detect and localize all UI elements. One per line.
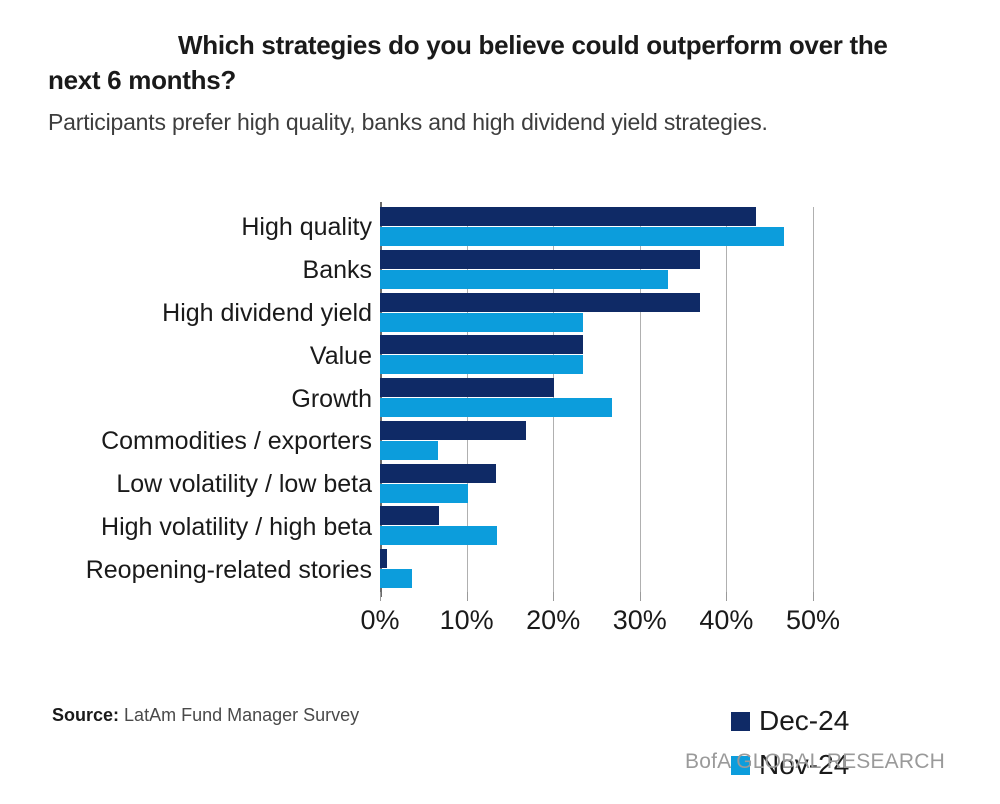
bar-group <box>380 250 813 293</box>
x-tick <box>553 592 554 601</box>
legend-item[interactable]: Dec-24 <box>731 699 849 743</box>
category-label: High dividend yield <box>162 301 372 326</box>
bar-nov-24 <box>380 227 784 246</box>
bar-dec-24 <box>380 378 554 397</box>
chart-title: Which strategies do you believe could ou… <box>0 0 1000 99</box>
bar-nov-24 <box>380 526 497 545</box>
bar-nov-24 <box>380 441 438 460</box>
bar-dec-24 <box>380 421 526 440</box>
x-tick-label: 30% <box>613 605 667 636</box>
chart-plot: High qualityBanksHigh dividend yieldValu… <box>0 195 1000 655</box>
bar-dec-24 <box>380 250 700 269</box>
plot-area <box>380 207 813 592</box>
y-axis-category-labels: High qualityBanksHigh dividend yieldValu… <box>0 207 376 592</box>
category-label: Commodities / exporters <box>101 429 372 454</box>
x-tick-label: 20% <box>526 605 580 636</box>
bar-nov-24 <box>380 313 583 332</box>
source-note: Source: LatAm Fund Manager Survey <box>52 705 359 726</box>
bar-nov-24 <box>380 484 468 503</box>
bar-dec-24 <box>380 293 700 312</box>
category-label: High quality <box>241 215 372 240</box>
bar-nov-24 <box>380 270 668 289</box>
bar-group <box>380 293 813 336</box>
bar-nov-24 <box>380 569 412 588</box>
bar-group <box>380 549 813 592</box>
gridline-50 <box>813 207 814 592</box>
category-label: Value <box>310 344 372 369</box>
x-tick-label: 40% <box>699 605 753 636</box>
x-tick <box>380 592 381 601</box>
bar-nov-24 <box>380 355 583 374</box>
legend-swatch-dec-24 <box>731 712 750 731</box>
legend-label: Dec-24 <box>759 705 849 737</box>
bar-dec-24 <box>380 207 756 226</box>
x-tick <box>467 592 468 601</box>
x-tick-label: 10% <box>440 605 494 636</box>
category-label: Low volatility / low beta <box>116 472 372 497</box>
x-tick <box>640 592 641 601</box>
category-label: Growth <box>291 387 372 412</box>
bar-group <box>380 207 813 250</box>
bar-group <box>380 506 813 549</box>
bar-group <box>380 378 813 421</box>
bar-dec-24 <box>380 549 387 568</box>
bar-dec-24 <box>380 506 439 525</box>
x-tick <box>813 592 814 601</box>
bar-group <box>380 335 813 378</box>
bar-dec-24 <box>380 464 496 483</box>
x-tick-label: 50% <box>786 605 840 636</box>
source-text: LatAm Fund Manager Survey <box>124 705 359 725</box>
x-tick-label: 0% <box>360 605 399 636</box>
category-label: Reopening-related stories <box>86 558 372 583</box>
source-label: Source: <box>52 705 119 725</box>
chart-subtitle: Participants prefer high quality, banks … <box>0 99 1000 137</box>
bar-dec-24 <box>380 335 583 354</box>
bar-nov-24 <box>380 398 612 417</box>
x-tick <box>726 592 727 601</box>
attribution: BofA GLOBAL RESEARCH <box>685 750 945 774</box>
chart-header: Which strategies do you believe could ou… <box>0 0 1000 136</box>
category-label: High volatility / high beta <box>101 515 372 540</box>
bar-group <box>380 464 813 507</box>
bar-group <box>380 421 813 464</box>
category-label: Banks <box>303 258 372 283</box>
